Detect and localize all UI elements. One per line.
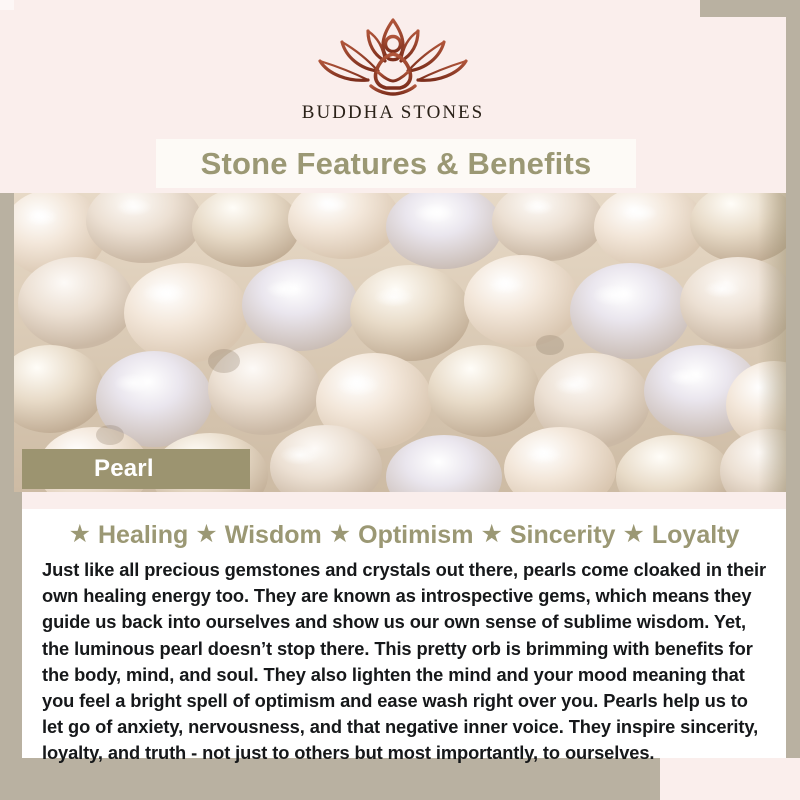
frame-right-band (786, 0, 800, 760)
lotus-meditation-figure-icon (308, 14, 478, 100)
content-top-strip (22, 492, 786, 509)
photo-edge-shading (758, 193, 786, 492)
star-icon: ★ (622, 522, 644, 547)
title-banner: Stone Features & Benefits (156, 139, 636, 188)
benefit-label: Optimism (358, 523, 473, 548)
star-icon: ★ (69, 522, 91, 547)
page-title: Stone Features & Benefits (201, 146, 592, 182)
stone-description: Just like all precious gemstones and cry… (22, 555, 786, 767)
benefit-item-optimism: ★ Optimism (329, 523, 474, 548)
stone-name-band: Pearl (22, 449, 250, 489)
stone-features-poster: BUDDHA STONES Stone Features & Benefits (0, 0, 800, 800)
brand-name: BUDDHA STONES (302, 102, 484, 124)
stone-name: Pearl (22, 455, 154, 483)
benefit-item-loyalty: ★ Loyalty (622, 523, 739, 548)
benefit-label: Healing (98, 523, 188, 548)
benefits-list: ★ Healing ★ Wisdom ★ Optimism ★ Sincerit… (22, 509, 786, 555)
benefit-label: Sincerity (510, 523, 616, 548)
benefit-label: Loyalty (652, 523, 740, 548)
star-icon: ★ (329, 522, 351, 547)
benefit-item-wisdom: ★ Wisdom (195, 523, 321, 548)
star-icon: ★ (480, 522, 502, 547)
header-corner-notch (0, 0, 14, 10)
stone-photo (14, 193, 786, 492)
brand-logo: BUDDHA STONES (0, 14, 786, 136)
benefit-item-sincerity: ★ Sincerity (480, 523, 615, 548)
pearl-pile-image (14, 193, 786, 492)
benefit-label: Wisdom (225, 523, 322, 548)
content-card: ★ Healing ★ Wisdom ★ Optimism ★ Sincerit… (22, 509, 786, 758)
benefit-item-healing: ★ Healing (69, 523, 189, 548)
star-icon: ★ (195, 522, 217, 547)
